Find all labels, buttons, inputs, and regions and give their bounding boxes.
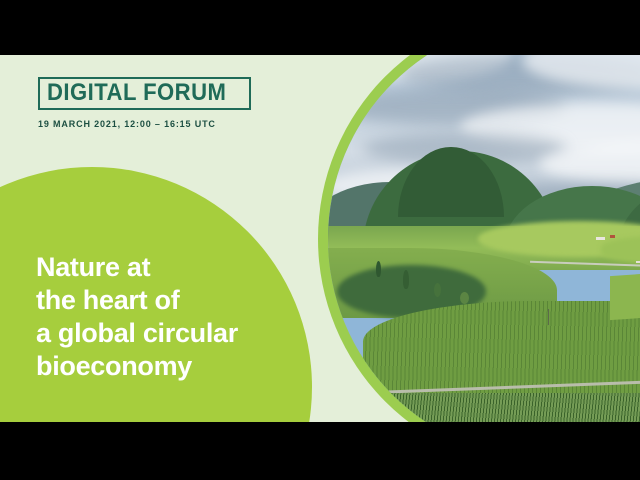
logo-text: DIGITAL FORUM xyxy=(47,81,226,105)
tree xyxy=(403,270,409,289)
tree xyxy=(460,292,469,304)
headline-line-3: a global circular xyxy=(36,317,316,350)
presentation-slide: Photo by Luis Dias on Unsplash Nature at… xyxy=(0,55,640,422)
landscape-photo: Photo by Luis Dias on Unsplash xyxy=(328,55,640,422)
farm-building-roof xyxy=(610,235,615,238)
headline-line-2: the heart of xyxy=(36,284,316,317)
digital-forum-logo: DIGITAL FORUM xyxy=(38,77,251,110)
terrace-field xyxy=(610,264,640,320)
letterbox-bar-top xyxy=(0,0,640,55)
headline-line-4: bioeconomy xyxy=(36,350,316,383)
photo-circle-ring: Photo by Luis Dias on Unsplash xyxy=(318,55,640,422)
vineyard-rows xyxy=(328,393,640,422)
tree xyxy=(434,283,441,297)
video-player-frame: Photo by Luis Dias on Unsplash Nature at… xyxy=(0,0,640,480)
letterbox-bar-bottom xyxy=(0,422,640,480)
farm-building xyxy=(636,261,640,263)
event-date: 19 MARCH 2021, 12:00 – 16:15 UTC xyxy=(38,119,251,129)
brand-block: DIGITAL FORUM 19 MARCH 2021, 12:00 – 16:… xyxy=(38,77,251,129)
headline-line-1: Nature at xyxy=(36,251,316,284)
slide-headline: Nature at the heart of a global circular… xyxy=(36,251,316,383)
utility-pole xyxy=(548,309,549,325)
farm-building xyxy=(596,237,605,240)
